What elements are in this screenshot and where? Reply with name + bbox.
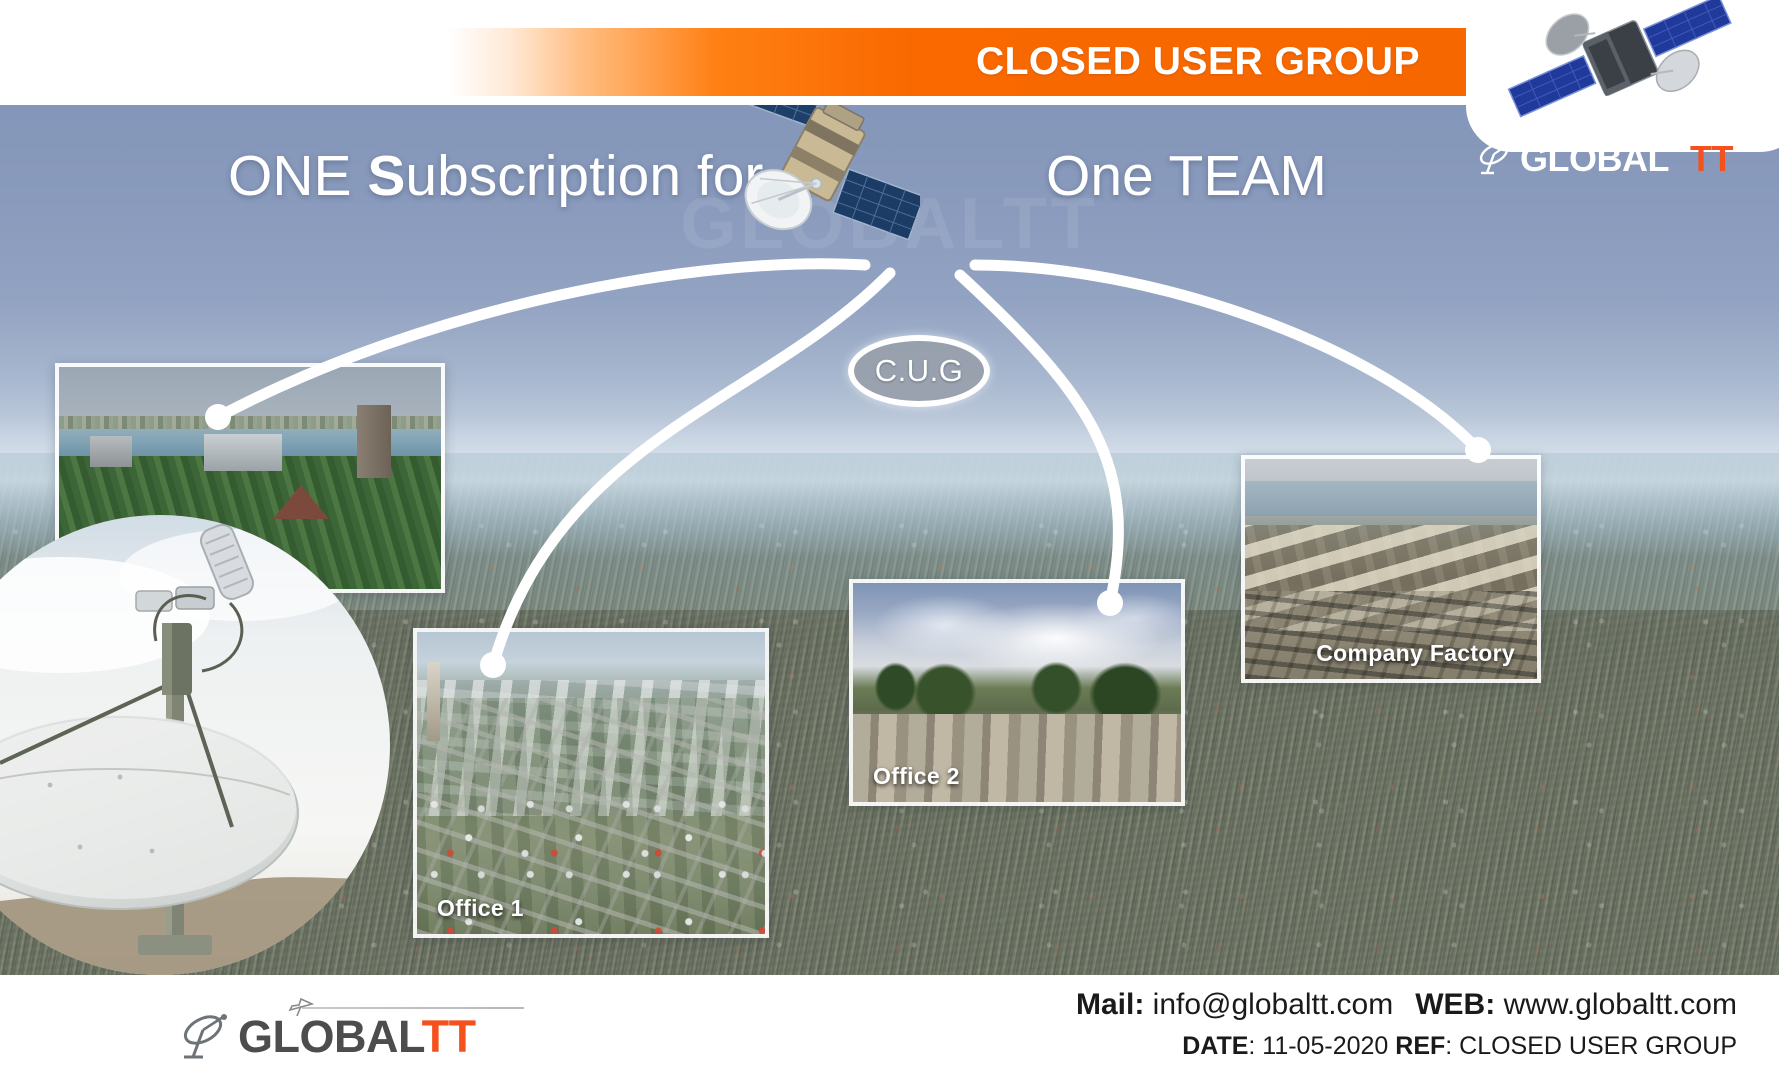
slide-canvas: GLOBALTT ONE Subscription for One TEAM <box>0 0 1779 1080</box>
footer-brand-wordmark: GLOBALTT <box>238 1013 476 1061</box>
satellite-dish-icon <box>180 1013 236 1061</box>
office-1-photo[interactable]: Office 1 <box>413 628 769 938</box>
header-brand-global: GLOBAL <box>1520 138 1669 180</box>
mail-label: Mail: <box>1076 988 1144 1021</box>
footer-brand-logo[interactable]: GLOBALTT <box>180 991 570 1065</box>
photo-building <box>204 434 282 472</box>
photo-sea <box>1245 481 1537 516</box>
vsat-dish-photo <box>0 495 390 975</box>
company-factory-photo[interactable]: Company Factory <box>1241 455 1541 683</box>
footer-contact-line-2: DATE: 11-05-2020 REF: CLOSED USER GROUP <box>1076 1027 1737 1065</box>
header-satellite-panel <box>1466 0 1779 152</box>
hero-scene: GLOBALTT ONE Subscription for One TEAM <box>0 105 1779 975</box>
satellite-dish-icon <box>1478 142 1518 176</box>
footer-contact-line-1: Mail: info@globaltt.comWEB: www.globaltt… <box>1076 983 1737 1027</box>
logo-rule <box>302 1007 524 1009</box>
footer-brand-global: GLOBAL <box>238 1011 422 1062</box>
office-2-photo[interactable]: Office 2 <box>849 579 1185 806</box>
footer-contact-block: Mail: info@globaltt.comWEB: www.globaltt… <box>1076 983 1737 1065</box>
cug-hub-label: C.U.G <box>875 353 964 389</box>
photo-building <box>90 436 132 467</box>
ref-label: REF <box>1395 1032 1445 1060</box>
cug-hub-node[interactable]: C.U.G <box>848 335 990 407</box>
date-label: DATE <box>1182 1032 1248 1060</box>
satellite-icon <box>690 105 920 295</box>
company-factory-photo-label: Company Factory <box>1316 640 1515 667</box>
page-title: CLOSED USER GROUP <box>976 40 1420 84</box>
footer-bar: GLOBALTT Mail: info@globaltt.comWEB: www… <box>125 975 1779 1080</box>
footer-brand-tt: TT <box>422 1011 476 1062</box>
photo-tower <box>357 405 391 478</box>
office-1-photo-label: Office 1 <box>437 895 524 922</box>
header-brand-tt: TT <box>1690 138 1733 180</box>
web-label: WEB: <box>1415 988 1495 1021</box>
ref-value: : CLOSED USER GROUP <box>1445 1032 1737 1060</box>
headline-right: One TEAM <box>1046 143 1327 209</box>
date-value: : 11-05-2020 <box>1248 1032 1395 1060</box>
satellite-icon <box>1500 0 1750 148</box>
header-title-band: CLOSED USER GROUP <box>448 28 1476 96</box>
office-1-photo-image <box>417 632 765 934</box>
headline-left-plain: ONE <box>228 144 367 208</box>
headline-left: ONE Subscription for <box>228 143 763 209</box>
web-value[interactable]: www.globaltt.com <box>1504 988 1737 1021</box>
headline-left-bold: S <box>367 144 405 208</box>
photo-minaret <box>427 662 440 741</box>
office-2-photo-label: Office 2 <box>873 763 960 790</box>
mail-value[interactable]: info@globaltt.com <box>1153 988 1394 1021</box>
